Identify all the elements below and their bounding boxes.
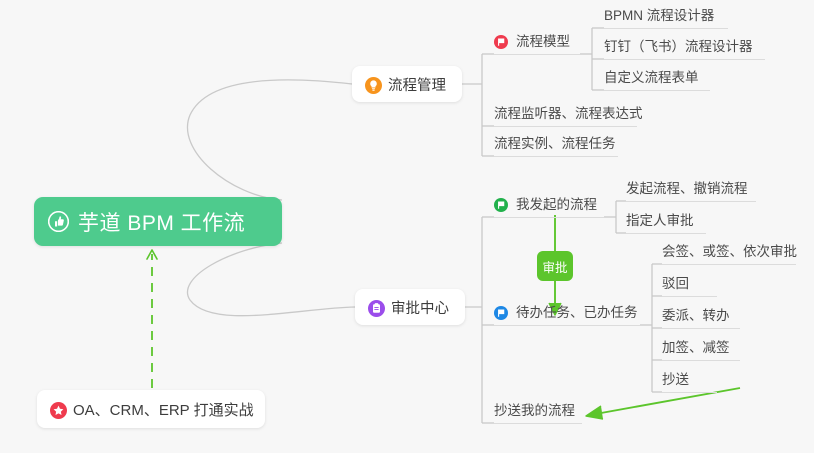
leaf-todo-done-tasks[interactable]: 待办任务、已办任务: [494, 309, 640, 326]
leaf-custom-form[interactable]: 自定义流程表单: [604, 74, 710, 91]
leaf-delegate-transfer-label: 委派、转办: [662, 308, 730, 324]
approval-badge: 审批: [537, 251, 573, 281]
leaf-start-cancel-process-label: 发起流程、撤销流程: [626, 181, 748, 197]
leaf-process-model[interactable]: 流程模型: [494, 38, 580, 55]
leaf-start-cancel-process[interactable]: 发起流程、撤销流程: [626, 185, 756, 202]
clipboard-icon: [368, 300, 383, 315]
connector-root-to-process-management: [187, 80, 352, 200]
flag-icon: [494, 35, 508, 49]
leaf-cc-to-me[interactable]: 抄送我的流程: [494, 407, 582, 424]
root-node-label: 芋道 BPM 工作流: [78, 207, 245, 237]
leaf-reject[interactable]: 驳回: [662, 280, 717, 297]
flag-icon: [494, 198, 508, 212]
leaf-cc[interactable]: 抄送: [662, 376, 717, 393]
leaf-reject-label: 驳回: [662, 276, 689, 292]
node-approval-center-label: 审批中心: [391, 297, 449, 318]
leaf-instance-task[interactable]: 流程实例、流程任务: [494, 140, 618, 157]
node-process-management[interactable]: 流程管理: [352, 66, 462, 102]
flag-icon: [494, 306, 508, 320]
lightbulb-icon: [365, 77, 380, 92]
root-node[interactable]: 芋道 BPM 工作流: [34, 197, 282, 246]
leaf-add-remove-sign[interactable]: 加签、减签: [662, 344, 740, 361]
leaf-my-initiated-label: 我发起的流程: [516, 197, 597, 213]
leaf-countersign-label: 会签、或签、依次审批: [662, 244, 797, 260]
leaf-listener-expression-label: 流程监听器、流程表达式: [494, 106, 643, 122]
mindmap-canvas: 芋道 BPM 工作流 流程管理 流程模型 BPMN 流程设计器 钉钉（飞书）流程…: [0, 0, 814, 453]
leaf-cc-to-me-label: 抄送我的流程: [494, 403, 575, 419]
leaf-bpmn-designer-label: BPMN 流程设计器: [604, 8, 714, 24]
leaf-delegate-transfer[interactable]: 委派、转办: [662, 312, 740, 329]
leaf-countersign[interactable]: 会签、或签、依次审批: [662, 248, 796, 265]
leaf-dingtalk-feishu-designer-label: 钉钉（飞书）流程设计器: [604, 39, 753, 55]
arrow-cc-to-cc-mine-head: [586, 406, 603, 419]
leaf-assignee-approval[interactable]: 指定人审批: [626, 217, 706, 234]
node-integration-label: OA、CRM、ERP 打通实战: [73, 399, 254, 420]
leaf-listener-expression[interactable]: 流程监听器、流程表达式: [494, 110, 637, 127]
star-icon: [50, 402, 65, 417]
leaf-dingtalk-feishu-designer[interactable]: 钉钉（飞书）流程设计器: [604, 43, 765, 60]
leaf-custom-form-label: 自定义流程表单: [604, 70, 699, 86]
leaf-add-remove-sign-label: 加签、减签: [662, 340, 730, 356]
leaf-instance-task-label: 流程实例、流程任务: [494, 136, 616, 152]
connector-root-to-approval-center: [187, 243, 355, 316]
node-process-management-label: 流程管理: [388, 74, 446, 95]
leaf-process-model-label: 流程模型: [516, 34, 570, 50]
leaf-todo-done-tasks-label: 待办任务、已办任务: [516, 305, 638, 321]
leaf-bpmn-designer[interactable]: BPMN 流程设计器: [604, 12, 728, 29]
leaf-my-initiated[interactable]: 我发起的流程: [494, 201, 604, 218]
node-approval-center[interactable]: 审批中心: [355, 289, 465, 325]
thumbs-up-icon: [48, 211, 69, 232]
approval-badge-label: 审批: [542, 257, 567, 276]
leaf-assignee-approval-label: 指定人审批: [626, 213, 694, 229]
leaf-cc-label: 抄送: [662, 372, 689, 388]
node-integration[interactable]: OA、CRM、ERP 打通实战: [37, 390, 265, 428]
